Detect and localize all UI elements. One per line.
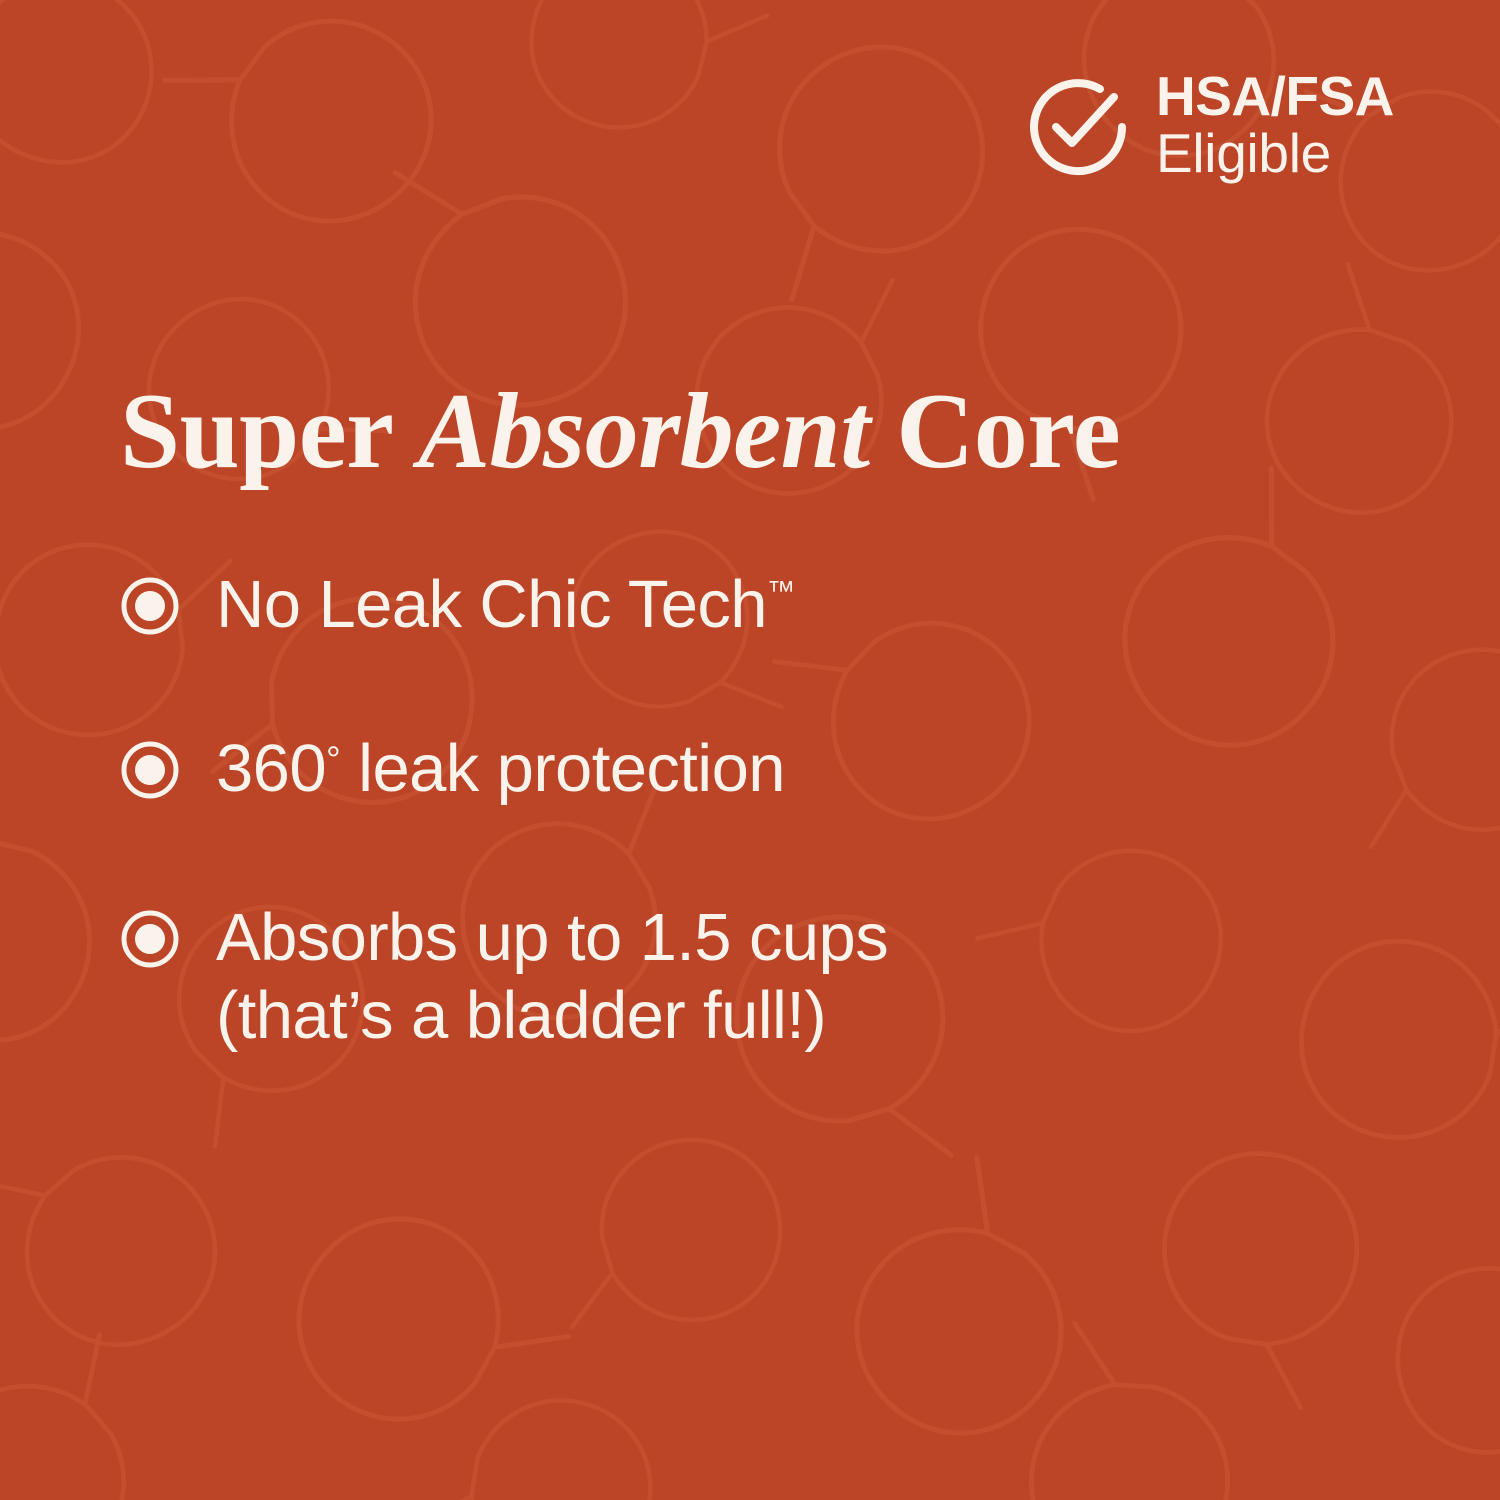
feature-text-main: No Leak Chic Tech (216, 567, 767, 642)
hsa-fsa-eligible-badge: HSA/FSA Eligible (1026, 68, 1394, 185)
badge-text-block: HSA/FSA Eligible (1156, 68, 1394, 185)
badge-line-eligible: Eligible (1156, 125, 1394, 182)
ring-bullet-icon (120, 576, 180, 636)
feature-list: No Leak Chic Tech™ 360° leak protection … (120, 566, 1400, 1056)
ring-bullet-icon (120, 740, 180, 800)
check-circle-icon (1026, 75, 1130, 179)
page-title: Super Absorbent Core (120, 378, 1120, 486)
feature-text: No Leak Chic Tech™ (216, 566, 795, 644)
headline-part-2-italic: Absorbent (418, 372, 870, 491)
badge-line-hsa-fsa: HSA/FSA (1156, 68, 1394, 125)
feature-text: Absorbs up to 1.5 cups (that’s a bladder… (216, 899, 888, 1056)
feature-text: 360° leak protection (216, 730, 785, 808)
feature-text-main: 360 (216, 731, 326, 806)
list-item: No Leak Chic Tech™ (120, 566, 1400, 644)
trademark-symbol: ™ (767, 575, 795, 606)
ring-bullet-icon (120, 909, 180, 969)
headline-part-1: Super (120, 372, 418, 491)
list-item: Absorbs up to 1.5 cups (that’s a bladder… (120, 899, 1400, 1056)
list-item: 360° leak protection (120, 730, 1400, 808)
headline-part-3: Core (870, 372, 1120, 491)
degree-symbol: ° (326, 739, 340, 780)
feature-text-main: Absorbs up to 1.5 cups (that’s a bladder… (216, 900, 888, 1053)
feature-text-tail: leak protection (340, 731, 785, 806)
product-feature-card: HSA/FSA Eligible Super Absorbent Core No… (0, 0, 1500, 1500)
